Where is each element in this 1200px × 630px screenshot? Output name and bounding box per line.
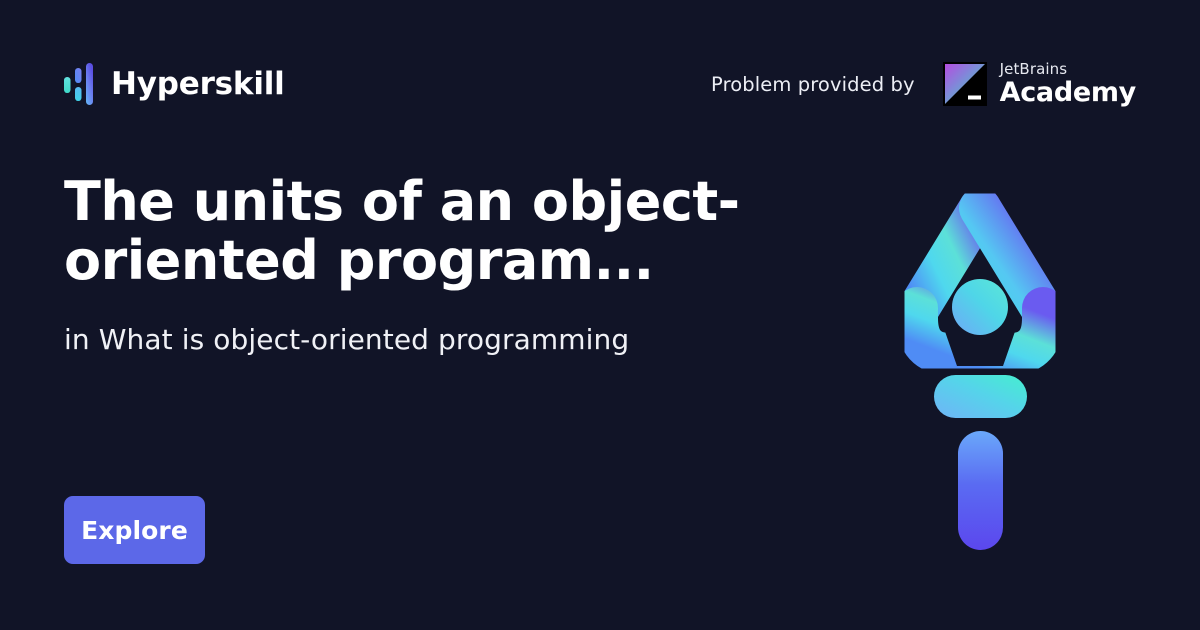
jetbrains-square-icon — [943, 62, 987, 106]
jetbrains-academy-wordmark: JetBrains Academy — [1000, 62, 1136, 106]
explore-button[interactable]: Explore — [64, 496, 205, 564]
jetbrains-label: JetBrains — [1000, 62, 1136, 77]
content: The units of an object-oriented program.… — [64, 172, 854, 356]
hyperskill-wordmark: Hyperskill — [111, 69, 285, 100]
provider-block: Problem provided by — [711, 62, 1136, 106]
academy-label: Academy — [1000, 79, 1136, 106]
jetbrains-academy-logo[interactable]: JetBrains Academy — [943, 62, 1136, 106]
hyperskill-bars-icon — [64, 62, 94, 106]
provider-label: Problem provided by — [711, 73, 915, 96]
og-card: Hyperskill Problem provided by — [0, 0, 1200, 630]
hyperskill-brand[interactable]: Hyperskill — [64, 62, 285, 106]
header: Hyperskill Problem provided by — [64, 53, 1136, 115]
page-subtitle: in What is object-oriented programming — [64, 323, 854, 357]
page-title: The units of an object-oriented program.… — [64, 172, 824, 291]
hyperskill-arch-mark-icon — [890, 180, 1090, 565]
